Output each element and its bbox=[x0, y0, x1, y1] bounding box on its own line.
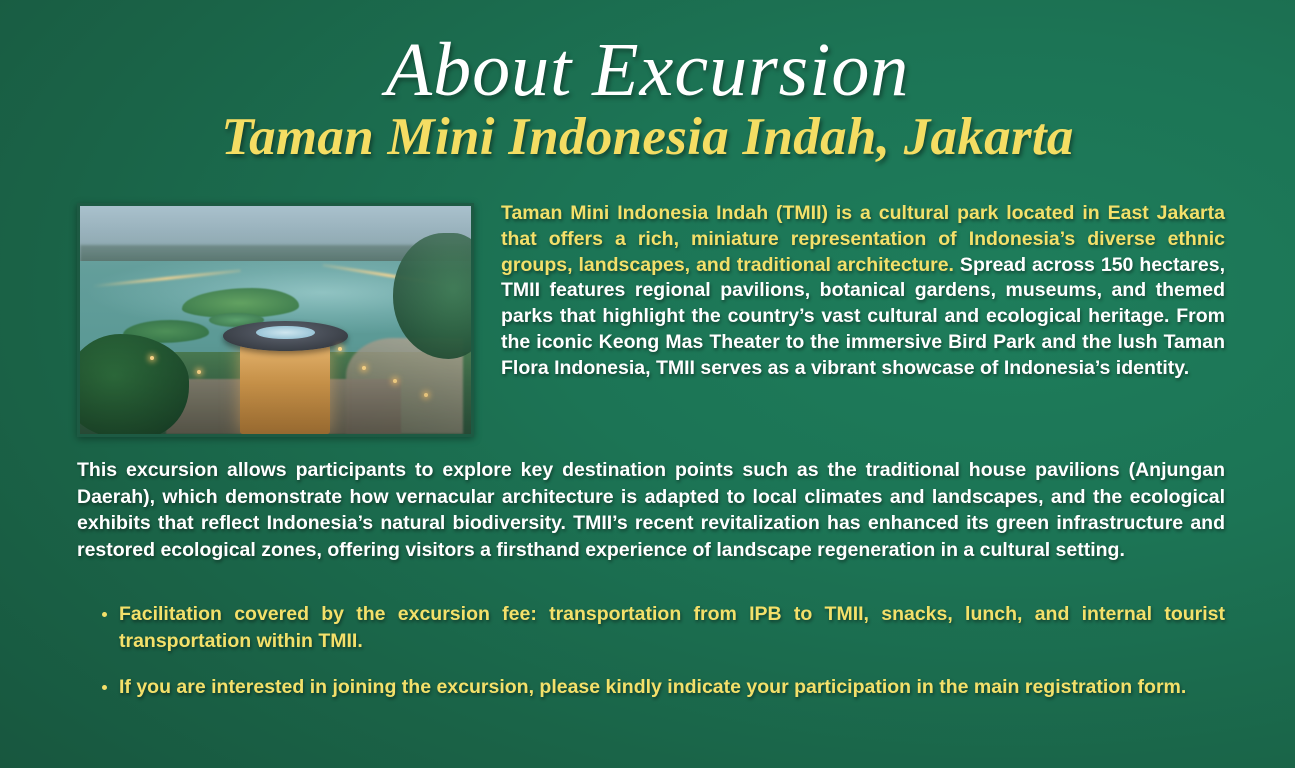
page-title: About Excursion bbox=[0, 34, 1295, 107]
photo-canvas bbox=[80, 206, 471, 434]
list-item: Facilitation covered by the excursion fe… bbox=[97, 601, 1225, 654]
list-item: If you are interested in joining the exc… bbox=[97, 674, 1225, 701]
page-subtitle: Taman Mini Indonesia Indah, Jakarta bbox=[0, 111, 1295, 164]
body-paragraph: This excursion allows participants to ex… bbox=[77, 457, 1225, 563]
facilitation-list: Facilitation covered by the excursion fe… bbox=[97, 601, 1225, 701]
intro-text-column: Taman Mini Indonesia Indah (TMII) is a c… bbox=[474, 201, 1225, 382]
intro-section: Taman Mini Indonesia Indah (TMII) is a c… bbox=[77, 203, 1225, 437]
page-header: About Excursion Taman Mini Indonesia Ind… bbox=[0, 0, 1295, 164]
photo-atmospheric-haze bbox=[80, 206, 471, 434]
intro-paragraph: Taman Mini Indonesia Indah (TMII) is a c… bbox=[501, 201, 1225, 382]
excursion-photo bbox=[77, 203, 474, 437]
